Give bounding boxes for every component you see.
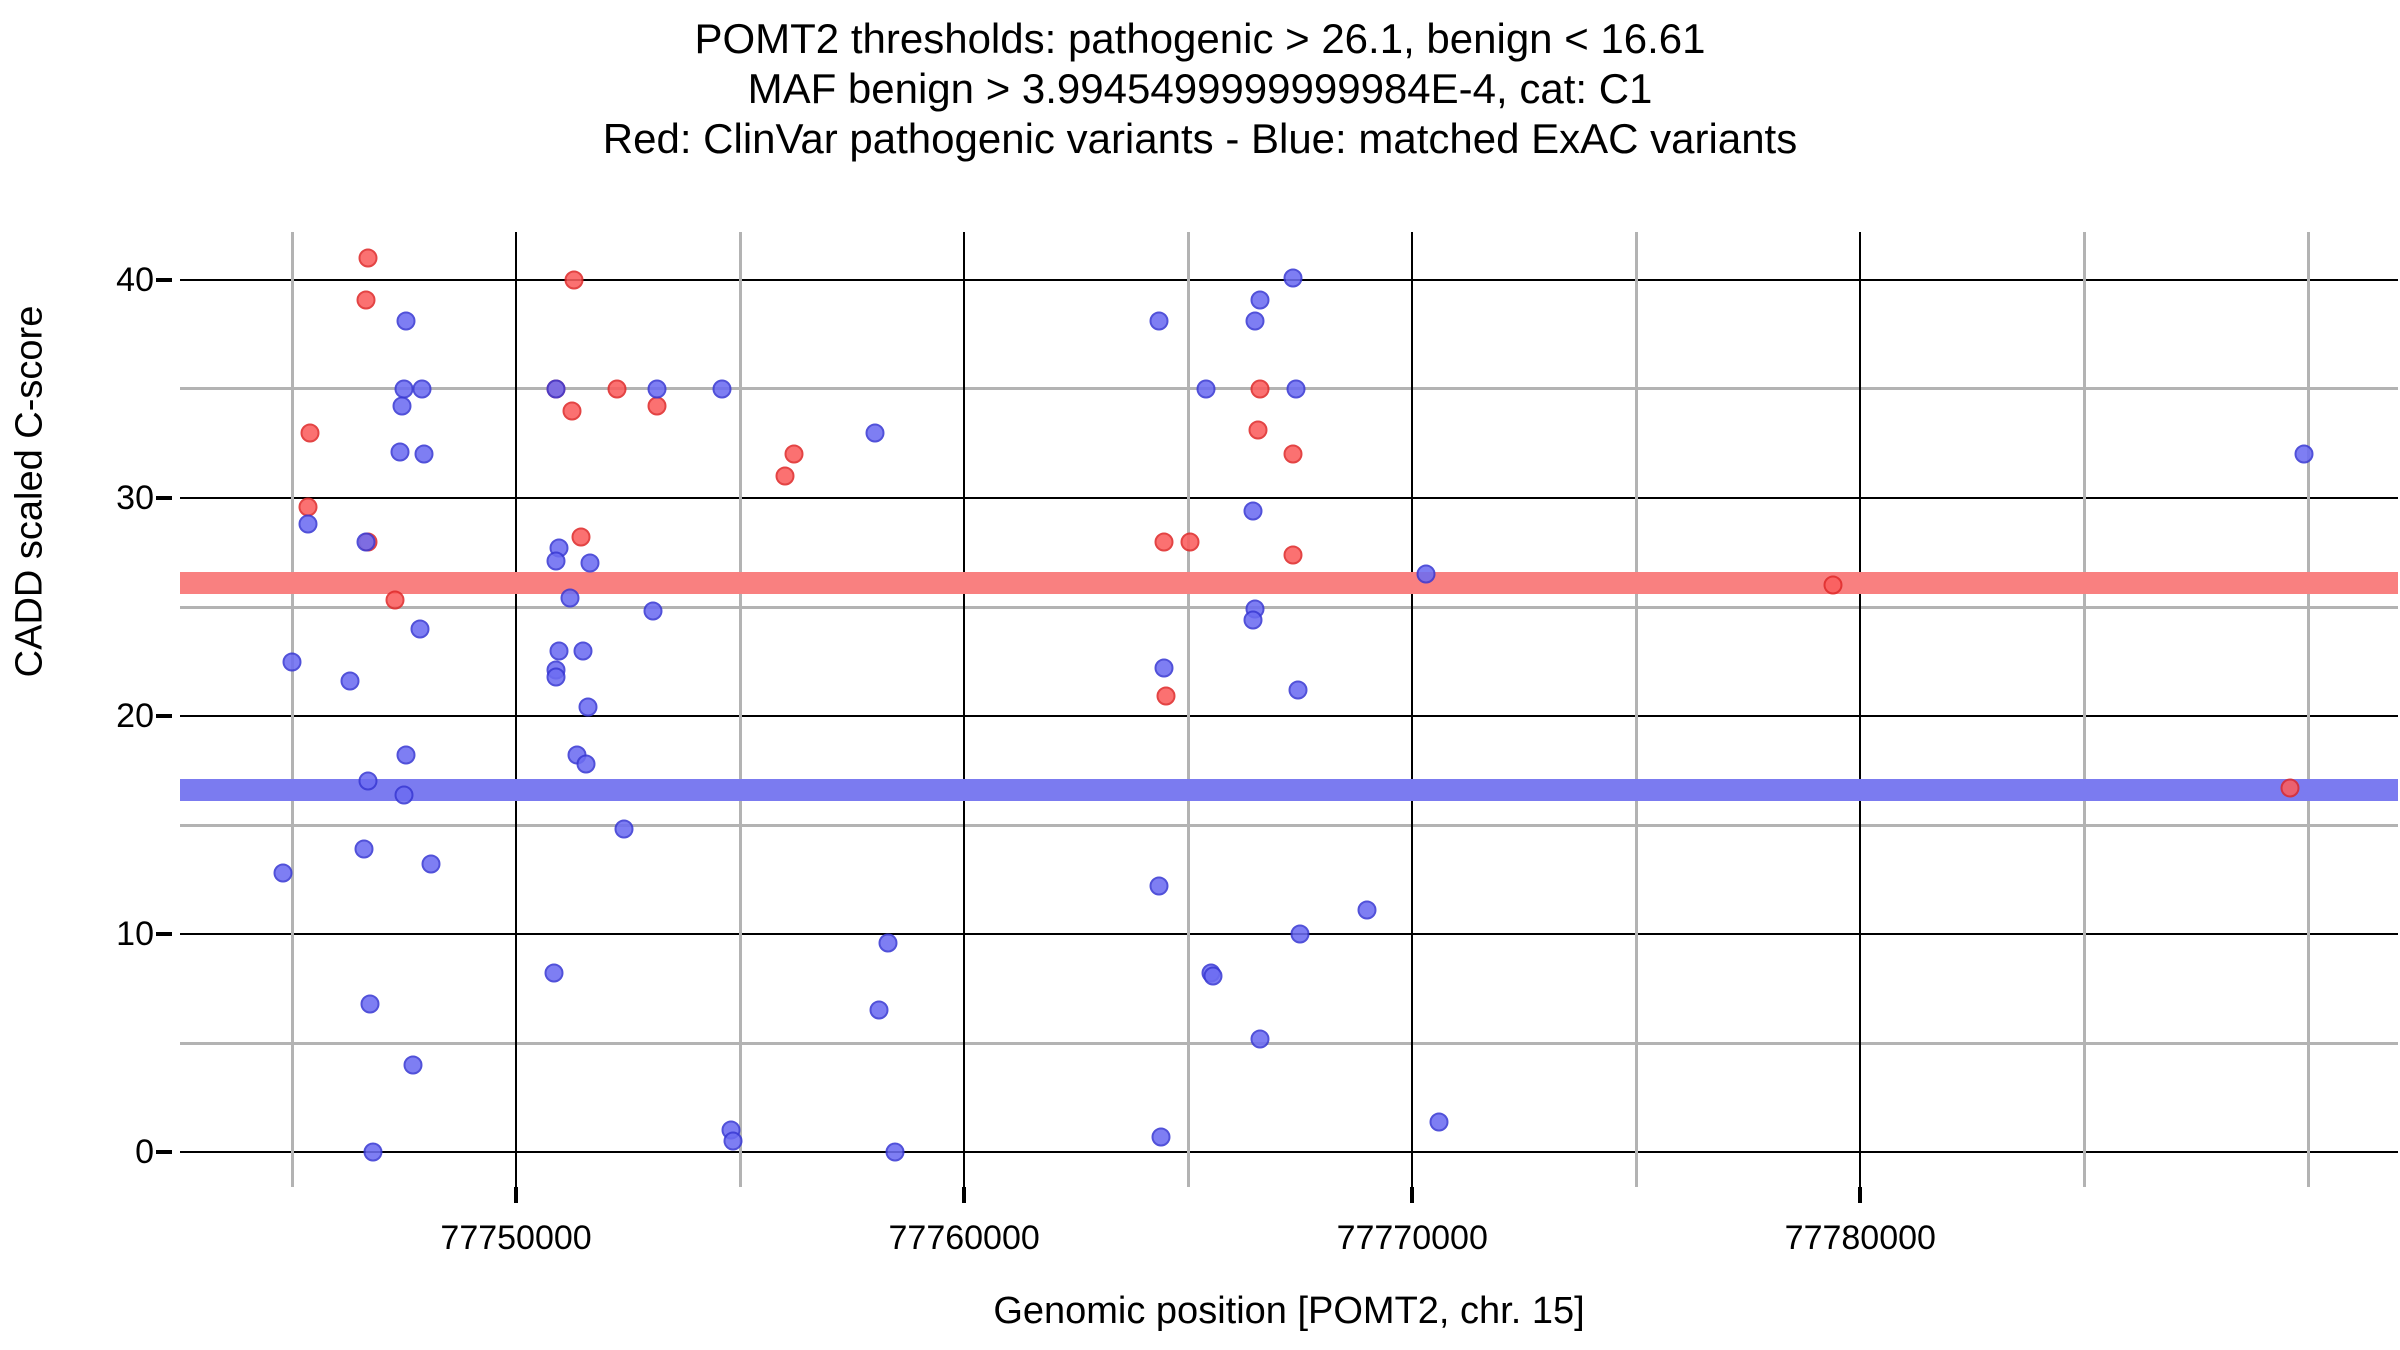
x-axis-tick-label: 77750000	[440, 1221, 591, 1255]
chart-title-block: POMT2 thresholds: pathogenic > 26.1, ben…	[0, 14, 2400, 164]
data-point-pathogenic	[2281, 778, 2300, 797]
y-axis-tick-mark	[156, 496, 172, 500]
data-point-benign	[648, 379, 667, 398]
gridline-x-major	[1859, 232, 1861, 1187]
gridline-x-major	[1411, 232, 1413, 1187]
data-point-benign	[576, 755, 595, 774]
x-axis-tick-label: 77770000	[1337, 1221, 1488, 1255]
plot-area	[180, 232, 2398, 1187]
data-point-benign	[1154, 659, 1173, 678]
gridline-y-major	[180, 1151, 2398, 1153]
data-point-benign	[1430, 1112, 1449, 1131]
data-point-benign	[415, 445, 434, 464]
data-point-pathogenic	[1154, 532, 1173, 551]
data-point-benign	[1358, 901, 1377, 920]
data-point-pathogenic	[572, 528, 591, 547]
data-point-benign	[1197, 379, 1216, 398]
gridline-y-major	[180, 715, 2398, 717]
data-point-benign	[356, 532, 375, 551]
data-point-pathogenic	[386, 591, 405, 610]
data-point-benign	[298, 515, 317, 534]
title-line-3: Red: ClinVar pathogenic variants - Blue:…	[0, 114, 2400, 164]
data-point-benign	[421, 855, 440, 874]
x-axis-tick-mark	[1858, 1187, 1862, 1203]
x-axis: 77750000777600007777000077780000	[180, 1187, 2398, 1307]
gridline-y-major	[180, 933, 2398, 935]
y-axis-tick-mark	[156, 278, 172, 282]
data-point-benign	[274, 864, 293, 883]
data-point-pathogenic	[1156, 687, 1175, 706]
y-axis-tick-mark	[156, 714, 172, 718]
y-axis-tick-mark	[156, 932, 172, 936]
data-point-benign	[1150, 877, 1169, 896]
data-point-benign	[1416, 565, 1435, 584]
gridline-x-major	[963, 232, 965, 1187]
y-axis-tick-label: 0	[0, 1135, 180, 1169]
threshold-band-benign	[180, 779, 2398, 801]
data-point-benign	[397, 312, 416, 331]
data-point-pathogenic	[1284, 445, 1303, 464]
title-line-2: MAF benign > 3.9945499999999984E-4, cat:…	[0, 64, 2400, 114]
data-point-benign	[560, 589, 579, 608]
gridline-x-minor	[1635, 232, 1638, 1187]
data-point-benign	[870, 1001, 889, 1020]
data-point-benign	[614, 820, 633, 839]
data-point-benign	[341, 672, 360, 691]
title-line-1: POMT2 thresholds: pathogenic > 26.1, ben…	[0, 14, 2400, 64]
data-point-pathogenic	[1250, 379, 1269, 398]
data-point-benign	[1246, 312, 1265, 331]
y-axis-label: CADD scaled C-score	[9, 42, 52, 942]
x-axis-tick-mark	[962, 1187, 966, 1203]
data-point-benign	[878, 933, 897, 952]
data-point-benign	[397, 746, 416, 765]
data-point-pathogenic	[1824, 576, 1843, 595]
data-point-benign	[1152, 1127, 1171, 1146]
data-point-benign	[885, 1143, 904, 1162]
data-point-pathogenic	[1181, 532, 1200, 551]
x-axis-tick-mark	[1410, 1187, 1414, 1203]
data-point-pathogenic	[356, 290, 375, 309]
data-point-benign	[1250, 290, 1269, 309]
gridline-x-minor	[2083, 232, 2086, 1187]
data-point-benign	[354, 840, 373, 859]
data-point-benign	[643, 602, 662, 621]
data-point-benign	[1203, 966, 1222, 985]
data-point-benign	[1291, 925, 1310, 944]
data-point-benign	[574, 641, 593, 660]
data-point-benign	[1244, 502, 1263, 521]
data-point-pathogenic	[300, 423, 319, 442]
gridline-y-minor	[180, 824, 2398, 827]
gridline-y-major	[180, 497, 2398, 499]
data-point-benign	[547, 552, 566, 571]
gridline-y-minor	[180, 606, 2398, 609]
data-point-pathogenic	[563, 401, 582, 420]
data-point-benign	[283, 652, 302, 671]
data-point-benign	[2294, 445, 2313, 464]
data-point-benign	[412, 379, 431, 398]
data-point-benign	[580, 554, 599, 573]
gridline-x-minor	[1187, 232, 1190, 1187]
data-point-pathogenic	[359, 249, 378, 268]
data-point-benign	[1286, 379, 1305, 398]
data-point-benign	[865, 423, 884, 442]
x-axis-tick-mark	[514, 1187, 518, 1203]
x-axis-tick-label: 77780000	[1785, 1221, 1936, 1255]
data-point-pathogenic	[775, 467, 794, 486]
chart-root: POMT2 thresholds: pathogenic > 26.1, ben…	[0, 0, 2400, 1350]
data-point-benign	[545, 964, 564, 983]
gridline-x-major	[515, 232, 517, 1187]
threshold-band-pathogenic	[180, 572, 2398, 594]
data-point-pathogenic	[565, 270, 584, 289]
data-point-benign	[547, 667, 566, 686]
data-point-pathogenic	[784, 445, 803, 464]
x-axis-label: Genomic position [POMT2, chr. 15]	[180, 1290, 2398, 1333]
data-point-benign	[1150, 312, 1169, 331]
data-point-pathogenic	[648, 397, 667, 416]
y-axis-tick-mark	[156, 1150, 172, 1154]
data-point-pathogenic	[1284, 545, 1303, 564]
data-point-benign	[578, 698, 597, 717]
plot-canvas	[180, 232, 2398, 1187]
gridline-y-minor	[180, 1042, 2398, 1045]
x-axis-tick-label: 77760000	[889, 1221, 1040, 1255]
data-point-benign	[549, 641, 568, 660]
data-point-benign	[361, 994, 380, 1013]
data-point-benign	[713, 379, 732, 398]
data-point-benign	[1244, 611, 1263, 630]
data-point-pathogenic	[298, 497, 317, 516]
data-point-benign	[363, 1143, 382, 1162]
gridline-x-minor	[291, 232, 294, 1187]
data-point-benign	[724, 1132, 743, 1151]
data-point-benign	[1250, 1029, 1269, 1048]
data-point-benign	[547, 379, 566, 398]
data-point-benign	[395, 379, 414, 398]
data-point-benign	[1284, 268, 1303, 287]
data-point-benign	[410, 619, 429, 638]
data-point-benign	[390, 443, 409, 462]
data-point-benign	[395, 785, 414, 804]
gridline-x-minor	[739, 232, 742, 1187]
gridline-x-minor	[2307, 232, 2310, 1187]
data-point-pathogenic	[607, 379, 626, 398]
data-point-benign	[359, 772, 378, 791]
data-point-benign	[1288, 680, 1307, 699]
data-point-pathogenic	[1248, 421, 1267, 440]
data-point-benign	[392, 397, 411, 416]
data-point-benign	[404, 1055, 423, 1074]
